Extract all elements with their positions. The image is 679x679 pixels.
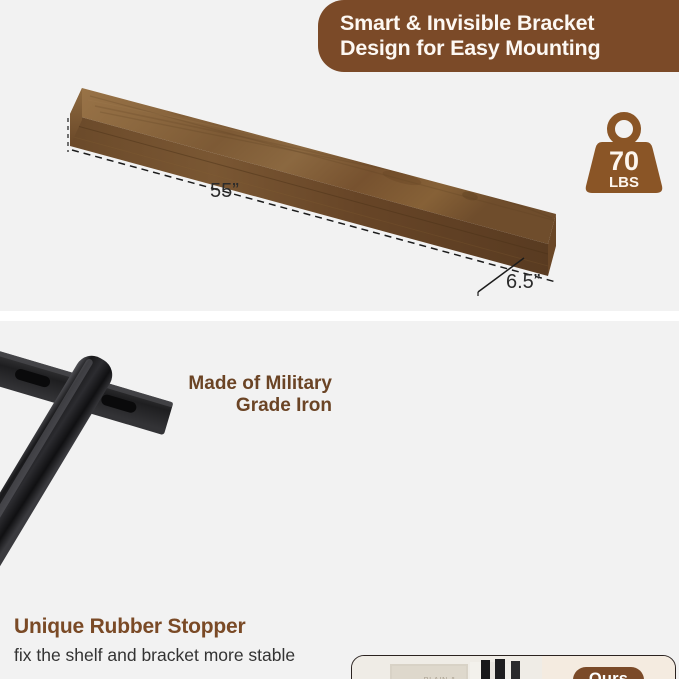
- comparison-card-ours: PLAIN & SIMPLE KIM BRENNEMAN: [351, 655, 676, 679]
- header-banner: Smart & Invisible Bracket Design for Eas…: [318, 0, 679, 72]
- weight-value: 70: [609, 146, 639, 176]
- weight-capacity-badge: 70 LBS: [578, 112, 670, 198]
- header-text: Smart & Invisible Bracket Design for Eas…: [340, 11, 600, 61]
- military-line-1: Made of Military: [152, 373, 332, 395]
- section-divider: [0, 311, 679, 321]
- ours-info-panel: Ours DEEPER & THICKER Create more storag…: [542, 656, 675, 679]
- infographic-page: 55” 6.5” Smart & Invisible Bracket Desig…: [0, 0, 679, 679]
- weight-icon: 70 LBS: [578, 112, 670, 198]
- military-line-2: Grade Iron: [152, 395, 332, 417]
- length-dimension-label: 55”: [210, 180, 239, 203]
- rubber-stopper-subtitle: fix the shelf and bracket more stable: [14, 645, 295, 666]
- header-line-2: Design for Easy Mounting: [340, 36, 600, 61]
- ours-shelf-photo: PLAIN & SIMPLE KIM BRENNEMAN: [352, 656, 542, 679]
- rubber-stopper-title: Unique Rubber Stopper: [14, 615, 245, 639]
- header-line-1: Smart & Invisible Bracket: [340, 11, 600, 36]
- depth-dimension-label: 6.5”: [506, 271, 540, 294]
- top-section: 55” 6.5” Smart & Invisible Bracket Desig…: [0, 0, 679, 311]
- military-grade-iron-title: Made of Military Grade Iron: [152, 373, 332, 418]
- weight-unit: LBS: [609, 174, 639, 191]
- ours-badge: Ours: [573, 667, 644, 679]
